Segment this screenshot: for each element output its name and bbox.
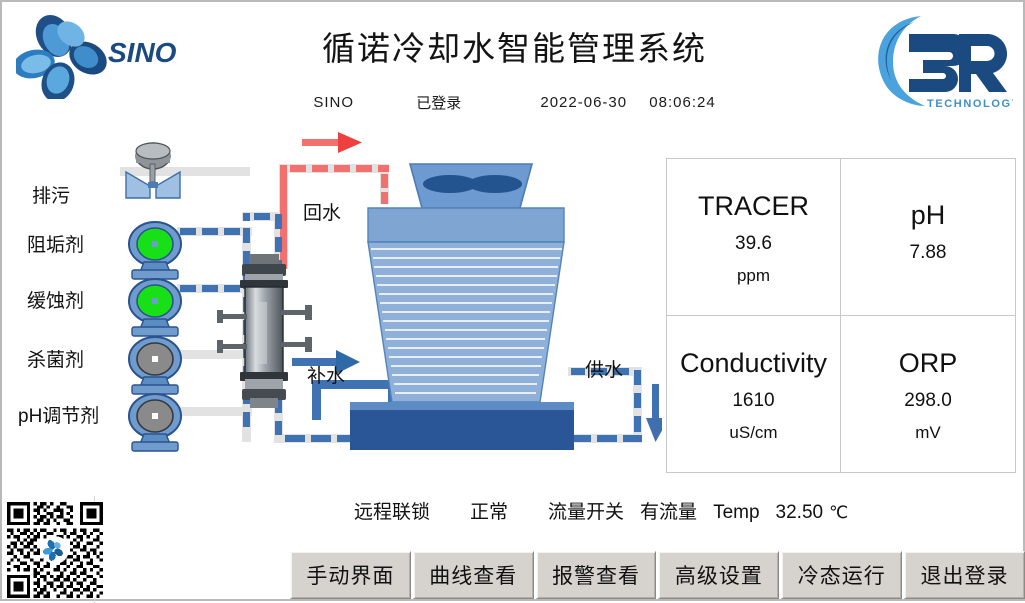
measurement-name: Conductivity [680,350,827,377]
filter-vessel [217,254,312,408]
flowswitch-label: 流量开关 [548,497,624,524]
interlock-label: 远程联锁 [354,497,430,524]
pump-biocide[interactable] [120,335,190,397]
qr-code [7,502,103,598]
makeup-water-label: 补水 [307,361,345,388]
cooling-tower [350,164,574,450]
login-state: 已登录 [416,92,461,113]
measurement-value: 7.88 [910,243,947,262]
pump-corrosion-inhibitor[interactable] [120,277,190,339]
application-window: SINO TECHNOLOGY 循诺冷却水智能管理系统 SINO 已登录 202… [0,0,1025,601]
supply-flow-arrow [646,384,662,442]
measurement-name: TRACER [698,193,809,220]
blowdown-valve[interactable] [120,142,190,204]
alarm-view-button[interactable]: 报警查看 [536,551,657,599]
measurement-tracer: TRACER 39.6 ppm [667,159,841,316]
bottom-status-row: 远程联锁 正常 流量开关 有流量 Temp 32.50 ℃ [354,497,1019,524]
cold-run-button[interactable]: 冷态运行 [781,551,902,599]
measurement-name: pH [911,202,946,229]
measurement-panel: TRACER 39.6 ppm pH 7.88 Conductivity 161… [666,158,1016,473]
header-status-line: SINO 已登录 2022-06-30 08:06:24 [2,92,1025,113]
process-flow-diagram [2,122,662,482]
system-time: 08:06:24 [649,94,715,111]
page-title: 循诺冷却水智能管理系统 [2,22,1025,70]
measurement-orp: ORP 298.0 mV [841,316,1015,473]
measurement-value: 1610 [732,391,774,410]
system-date: 2022-06-30 [540,94,627,111]
measurement-value: 39.6 [735,234,772,253]
flowswitch-value: 有流量 [640,497,697,524]
pump-ph-adjuster[interactable] [120,392,190,454]
measurement-value: 298.0 [904,391,952,410]
fan-blade-right [468,175,522,193]
temp-unit: ℃ [829,503,848,523]
temp-label: Temp [713,502,759,524]
tower-basin [350,410,574,450]
temp-value: 32.50 [776,502,824,524]
measurement-unit: uS/cm [729,424,777,441]
trend-view-button[interactable]: 曲线查看 [413,551,534,599]
logged-user: SINO [313,94,354,111]
measurement-unit: ppm [737,267,770,284]
interlock-value: 正常 [470,497,508,524]
action-button-bar: 手动界面 曲线查看 报警查看 高级设置 冷态运行 退出登录 [290,551,1025,599]
pump-antiscalant[interactable] [120,220,190,282]
measurement-unit: mV [915,424,941,441]
measurement-name: ORP [899,350,958,377]
return-flow-arrow [302,132,362,153]
supply-water-label: 供水 [585,355,623,382]
advanced-settings-button[interactable]: 高级设置 [658,551,779,599]
measurement-ph: pH 7.88 [841,159,1015,316]
return-water-label: 回水 [303,198,341,225]
manual-interface-button[interactable]: 手动界面 [290,551,411,599]
logout-button[interactable]: 退出登录 [904,551,1025,599]
measurement-conductivity: Conductivity 1610 uS/cm [667,316,841,473]
